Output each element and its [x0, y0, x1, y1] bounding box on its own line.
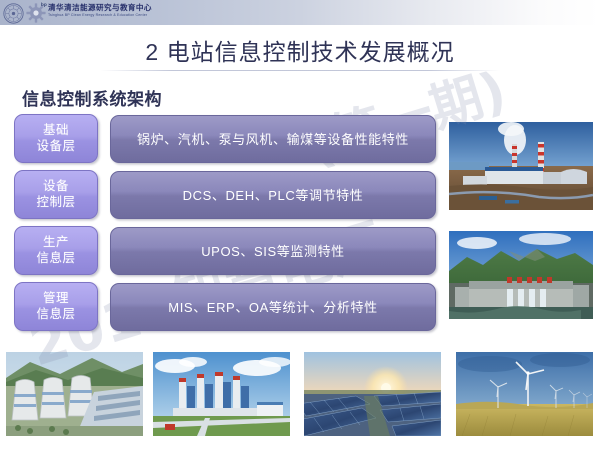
layer-label-line1: 生产 — [43, 235, 69, 250]
layer-label-line1: 管理 — [43, 291, 69, 306]
logo-text-block: 清华清洁能源研究与教育中心 Tsinghua BP Clean Energy R… — [48, 4, 152, 17]
layer-label-line2: 控制层 — [36, 195, 75, 210]
layer-content-foundation-equipment[interactable]: 锅炉、汽机、泵与风机、输煤等设备性能特性 — [110, 115, 436, 163]
layer-label-management-information[interactable]: 管理 信息层 — [14, 282, 98, 331]
title-divider — [100, 70, 500, 71]
page-title: 2 电站信息控制技术发展概况 — [0, 33, 600, 67]
cooling-towers-plant-photo — [6, 352, 143, 436]
layer-content-production-information[interactable]: UPOS、SIS等监测特性 — [110, 227, 436, 275]
solar-farm-photo — [304, 352, 441, 436]
layer-label-line1: 基础 — [43, 123, 69, 138]
diagram-row: 基础 设备层 锅炉、汽机、泵与风机、输煤等设备性能特性 — [14, 114, 436, 163]
layer-label-line2: 信息层 — [36, 307, 75, 322]
hydroelectric-dam-photo — [449, 231, 593, 319]
layer-label-line2: 设备层 — [36, 139, 75, 154]
logo-chinese-name: 清华清洁能源研究与教育中心 — [48, 4, 152, 12]
layer-label-equipment-control[interactable]: 设备 控制层 — [14, 170, 98, 219]
layer-label-foundation-equipment[interactable]: 基础 设备层 — [14, 114, 98, 163]
header-bar: bp 清华清洁能源研究与教育中心 Tsinghua BP Clean Energ… — [0, 0, 600, 25]
layer-label-line1: 设备 — [43, 179, 69, 194]
layer-content-equipment-control[interactable]: DCS、DEH、PLC等调节特性 — [110, 171, 436, 219]
gas-turbine-plant-photo — [153, 352, 290, 436]
wind-farm-photo — [456, 352, 593, 436]
logo-english-name: Tsinghua BP Clean Energy Research & Educ… — [48, 14, 152, 17]
slide-canvas: bp 清华清洁能源研究与教育中心 Tsinghua BP Clean Energ… — [0, 0, 600, 450]
logo-group: bp — [3, 2, 46, 24]
diagram-row: 设备 控制层 DCS、DEH、PLC等调节特性 — [14, 170, 436, 219]
architecture-diagram: 基础 设备层 锅炉、汽机、泵与风机、输煤等设备性能特性 设备 控制层 DCS、D… — [14, 114, 436, 339]
layer-content-management-information[interactable]: MIS、ERP、OA等统计、分析特性 — [110, 283, 436, 331]
bp-mark: bp — [41, 2, 47, 7]
tsinghua-seal-icon — [3, 3, 24, 24]
layer-label-production-information[interactable]: 生产 信息层 — [14, 226, 98, 275]
diagram-row: 管理 信息层 MIS、ERP、OA等统计、分析特性 — [14, 282, 436, 331]
diagram-row: 生产 信息层 UPOS、SIS等监测特性 — [14, 226, 436, 275]
layer-label-line2: 信息层 — [36, 251, 75, 266]
thermal-power-plant-photo — [449, 122, 593, 210]
section-heading: 信息控制系统架构 — [22, 85, 162, 110]
